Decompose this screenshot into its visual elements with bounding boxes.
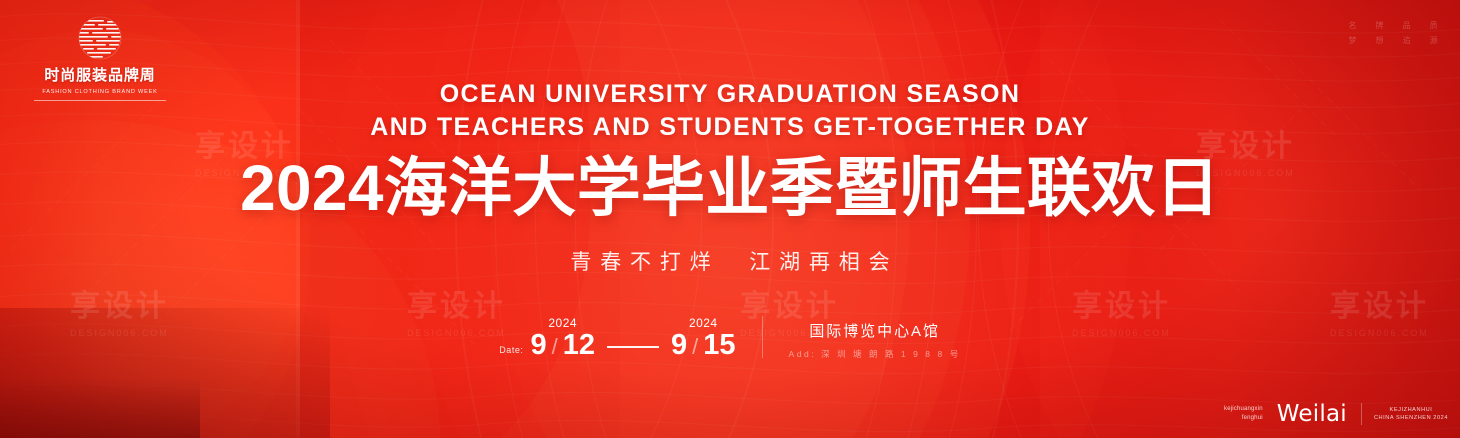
address-label: Add:	[789, 349, 817, 359]
start-day: 12	[563, 331, 595, 360]
venue-address: Add: 深 圳 塘 朗 路 1 9 8 8 号	[789, 348, 961, 360]
main-title-cn: 2024海洋大学毕业季暨师生联欢日	[0, 156, 1460, 220]
date-block: Date: 2024 9 / 12 2024 9 / 15	[499, 316, 735, 360]
english-headline-line-2: AND TEACHERS AND STUDENTS GET-TOGETHER D…	[0, 111, 1460, 144]
address-text: 深 圳 塘 朗 路 1 9 8 8 号	[821, 349, 961, 359]
end-day: 15	[703, 331, 735, 360]
sponsor-divider	[1361, 403, 1362, 425]
subtitle-cn: 青春不打烊 江湖再相会	[0, 246, 1460, 276]
info-divider	[762, 316, 763, 358]
sponsor-wordmark: Weilai	[1275, 401, 1349, 427]
end-year: 2024	[689, 316, 718, 330]
start-month: 9	[530, 331, 546, 360]
sponsor-right-line-2: CHINA SHENZHEN 2024	[1374, 414, 1448, 422]
sponsor-left-text: kejichuangxin fenghui	[1224, 405, 1263, 422]
headline-block: OCEAN UNIVERSITY GRADUATION SEASON AND T…	[0, 0, 1460, 276]
venue-name: 国际博览中心A馆	[789, 320, 961, 341]
start-slash: /	[552, 336, 558, 358]
venue-block: 国际博览中心A馆 Add: 深 圳 塘 朗 路 1 9 8 8 号	[789, 320, 961, 360]
english-headline-line-1: OCEAN UNIVERSITY GRADUATION SEASON	[0, 78, 1460, 111]
event-info-bar: Date: 2024 9 / 12 2024 9 / 15	[0, 316, 1460, 360]
poster-banner: 享设计DESIGN006.COM享设计DESIGN006.COM享设计DESIG…	[0, 0, 1460, 438]
sponsor-logo-row: kejichuangxin fenghui Weilai KEJIZHANHUI…	[1224, 401, 1448, 427]
sponsor-left-line-2: fenghui	[1224, 414, 1263, 423]
end-month: 9	[671, 331, 687, 360]
start-date-group: 2024 9 / 12	[530, 316, 595, 360]
end-date-group: 2024 9 / 15	[671, 316, 736, 360]
start-year: 2024	[548, 316, 577, 330]
end-slash: /	[692, 336, 698, 358]
sponsor-left-line-1: kejichuangxin	[1224, 405, 1263, 414]
date-range-dash	[607, 346, 659, 348]
date-label: Date:	[499, 345, 523, 360]
sponsor-right-line-1: KEJIZHANHUI	[1374, 406, 1448, 414]
sponsor-right-text: KEJIZHANHUI CHINA SHENZHEN 2024	[1374, 406, 1448, 423]
